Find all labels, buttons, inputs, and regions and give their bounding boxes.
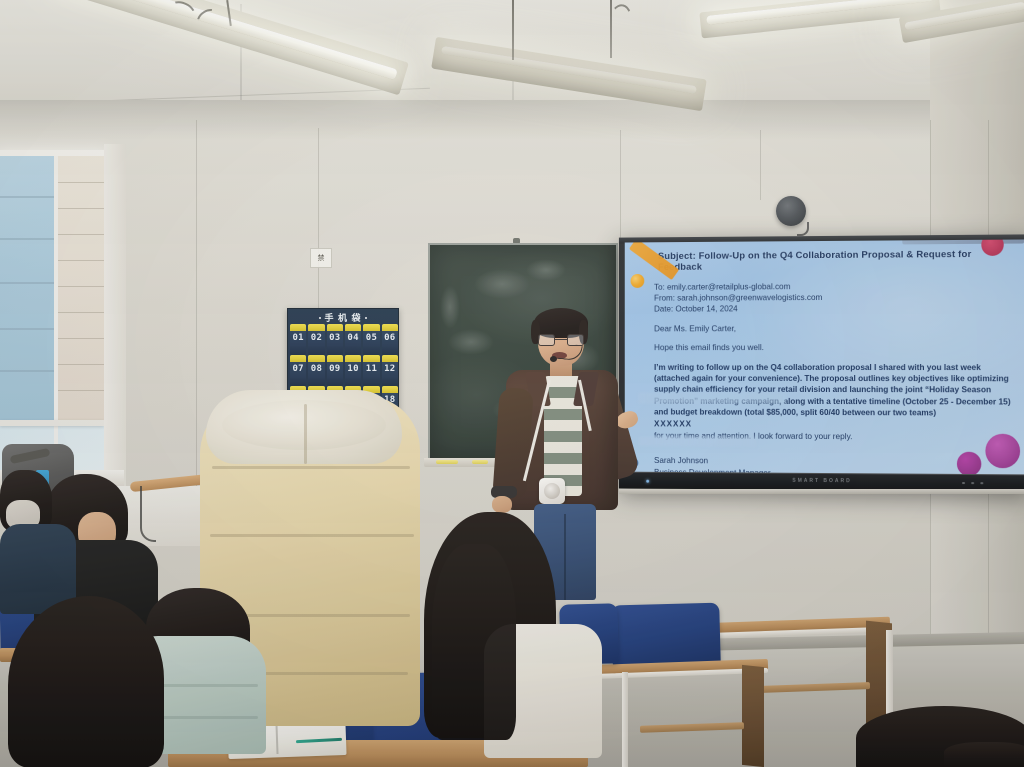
pocket-number: 01 bbox=[290, 333, 306, 343]
wall-sign: 禁 bbox=[310, 248, 332, 268]
pocket-number: 12 bbox=[382, 364, 398, 374]
pocket-number: 06 bbox=[382, 333, 398, 343]
pocket-lip bbox=[290, 355, 306, 362]
pocket-lip bbox=[345, 355, 361, 362]
classroom-window bbox=[0, 150, 110, 480]
email-salutation: Dear Ms. Emily Carter, bbox=[654, 323, 1012, 335]
pocket-number: 11 bbox=[363, 364, 379, 374]
window-mullion bbox=[0, 420, 104, 426]
pocket-lip bbox=[308, 355, 324, 362]
pocket-lip bbox=[308, 324, 324, 331]
wall-sign-text: 禁 bbox=[318, 253, 325, 263]
display-mount-bar bbox=[619, 489, 1024, 494]
jeans-seam bbox=[564, 514, 566, 600]
wall-shadow bbox=[0, 100, 1024, 140]
headset-microphone-icon bbox=[557, 343, 583, 361]
pocket-number: 02 bbox=[308, 333, 324, 343]
phone-pocket: 03 bbox=[327, 324, 343, 355]
slide-glare bbox=[638, 436, 756, 447]
phone-pocket: 04 bbox=[345, 324, 361, 355]
desk-leg bbox=[622, 672, 628, 767]
podium-cable bbox=[140, 486, 156, 542]
email-body: I’m writing to follow up on the Q4 colla… bbox=[654, 362, 1012, 419]
pocket-lip bbox=[363, 355, 379, 362]
pocket-number: 04 bbox=[345, 333, 361, 343]
pocket-lip bbox=[345, 324, 361, 331]
email-subject: Subject: Follow-Up on the Q4 Collaborati… bbox=[658, 249, 1012, 273]
phone-pocket: 07 bbox=[290, 355, 306, 386]
student-bottom-right-hair bbox=[944, 742, 1024, 767]
pocket-lip bbox=[382, 355, 398, 362]
light-wire bbox=[512, 0, 514, 60]
wall-panel-seam bbox=[760, 130, 761, 200]
pocket-number: 09 bbox=[327, 364, 343, 374]
smart-display[interactable]: Subject: Follow-Up on the Q4 Collaborati… bbox=[619, 234, 1024, 491]
window-mullion bbox=[54, 156, 58, 474]
slide-deco-orange-circle bbox=[631, 274, 645, 288]
classroom-photo-scene: 禁 手 机 袋 01020304050607080910111213141516… bbox=[0, 0, 1024, 767]
phone-chart-row: 010203040506 bbox=[289, 324, 399, 355]
display-screen[interactable]: Subject: Follow-Up on the Q4 Collaborati… bbox=[625, 239, 1024, 474]
phone-pocket: 11 bbox=[363, 355, 379, 386]
pocket-number: 10 bbox=[345, 364, 361, 374]
pocket-lip bbox=[290, 324, 306, 331]
pocket-number: 05 bbox=[363, 333, 379, 343]
phone-chart-row: 070809101112 bbox=[289, 355, 399, 386]
pocket-lip bbox=[363, 324, 379, 331]
phone-pocket: 06 bbox=[382, 324, 398, 355]
pocket-lip bbox=[382, 386, 398, 393]
email-redaction: XXXXXX bbox=[654, 420, 1012, 430]
phone-pocket: 12 bbox=[382, 355, 398, 386]
phone-pocket: 01 bbox=[290, 324, 306, 355]
phone-pocket: 08 bbox=[308, 355, 324, 386]
slide-glare bbox=[638, 393, 786, 404]
wall-panel-seam bbox=[196, 120, 197, 520]
phone-pocket: 09 bbox=[327, 355, 343, 386]
power-led-icon bbox=[646, 480, 649, 483]
phone-pocket: 05 bbox=[363, 324, 379, 355]
phone-pocket: 02 bbox=[308, 324, 324, 355]
email-date: Date: October 14, 2024 bbox=[654, 302, 1012, 314]
presenter-left-hand bbox=[492, 496, 512, 513]
window-jamb bbox=[104, 144, 126, 488]
chalk-stick bbox=[436, 460, 458, 464]
pocket-lip bbox=[327, 355, 343, 362]
student-right-long-hair bbox=[432, 544, 516, 740]
pocket-number: 08 bbox=[308, 364, 324, 374]
wall-panel-seam bbox=[620, 130, 621, 240]
pocket-lip bbox=[382, 324, 398, 331]
phone-chart-title: 手 机 袋 bbox=[288, 311, 398, 324]
pocket-number: 07 bbox=[290, 364, 306, 374]
window-glass bbox=[0, 156, 104, 474]
display-buttons[interactable] bbox=[962, 482, 983, 484]
email-meta: To: emily.carter@retailplus-global.com F… bbox=[654, 280, 1012, 315]
slide-header-strip bbox=[902, 239, 1024, 244]
slide-deco-purple-circle bbox=[957, 452, 981, 475]
phone-chart-title-text: 手 机 袋 bbox=[324, 311, 361, 324]
email-slide: Subject: Follow-Up on the Q4 Collaborati… bbox=[625, 239, 1024, 474]
phone-pocket: 10 bbox=[345, 355, 361, 386]
voice-amplifier-grill-icon bbox=[544, 483, 560, 499]
student-chair bbox=[611, 603, 721, 668]
display-brand-label: SMART BOARD bbox=[792, 478, 851, 484]
slide-deco-purple-circle bbox=[985, 434, 1020, 469]
student-long-hair-left bbox=[8, 596, 164, 767]
desk-side-panel bbox=[742, 665, 764, 767]
microphone-tip-icon bbox=[550, 356, 557, 362]
pocket-lip bbox=[327, 324, 343, 331]
pocket-number: 03 bbox=[327, 333, 343, 343]
email-opening: Hope this email finds you well. bbox=[654, 342, 1012, 354]
